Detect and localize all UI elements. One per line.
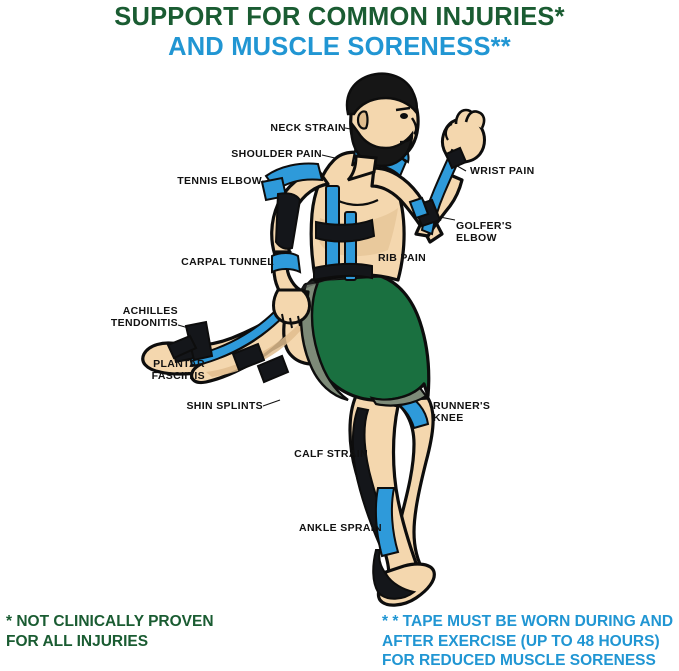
label-shoulder-pain: SHOULDER PAIN (162, 148, 322, 160)
label-carpal-tunnel: CARPAL TUNNEL (124, 256, 274, 268)
label-tennis-elbow: TENNIS ELBOW (110, 175, 262, 187)
label-ankle-sprain: ANKLE SPRAIN (258, 522, 382, 534)
label-wrist-pain: WRIST PAIN (470, 165, 600, 177)
label-calf-strain: CALF STRAIN (248, 448, 368, 460)
label-plantar-fasciitis: PLANTAR FASCIITIS (105, 358, 205, 382)
label-shin-splints: SHIN SPLINTS (143, 400, 263, 412)
injury-support-poster: SUPPORT FOR COMMON INJURIES* AND MUSCLE … (0, 0, 679, 665)
label-achilles-tendonitis: ACHILLES TENDONITIS (68, 305, 178, 329)
label-rib-pain: RIB PAIN (378, 252, 488, 264)
footnote-left: * NOT CLINICALLY PROVEN FOR ALL INJURIES (6, 612, 214, 651)
label-neck-strain: NECK STRAIN (196, 122, 346, 134)
tape-blue-wrist-left (272, 253, 300, 272)
footnote-right: * * TAPE MUST BE WORN DURING AND AFTER E… (382, 612, 673, 671)
label-runners-knee: RUNNER'S KNEE (433, 400, 543, 424)
runner-illustration (0, 0, 679, 665)
tape-black-upper-arm-left (276, 193, 300, 249)
label-golfers-elbow: GOLFER'S ELBOW (456, 220, 566, 244)
